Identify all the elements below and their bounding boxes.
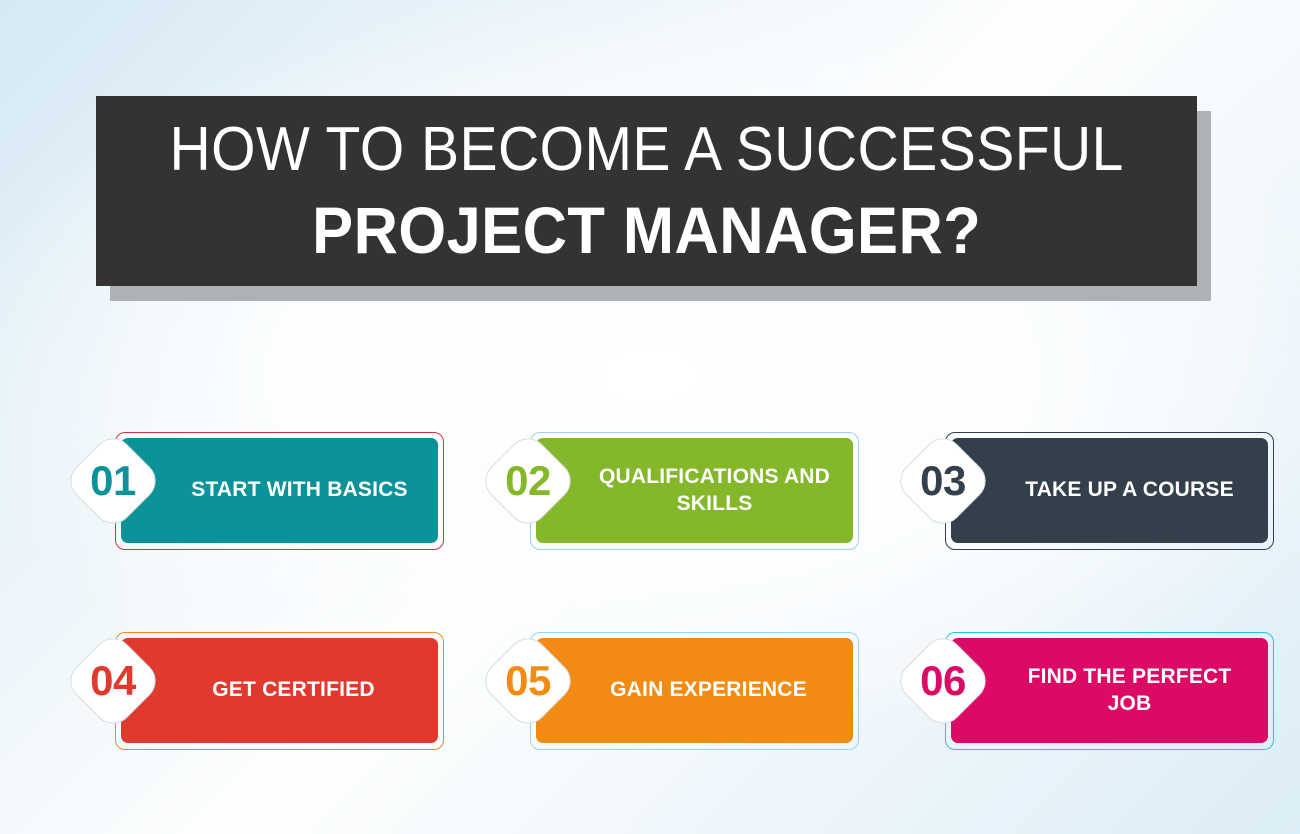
step-label-02: QUALIFICATIONS AND SKILLS — [536, 464, 853, 518]
step-number-03: 03 — [920, 457, 966, 505]
step-badge-06: 06 — [894, 632, 992, 730]
step-card-01[interactable]: START WITH BASICS 01 — [58, 426, 444, 556]
step-label-04: GET CERTIFIED — [166, 677, 392, 704]
step-label-01: START WITH BASICS — [133, 477, 426, 504]
step-bar-01: START WITH BASICS — [121, 438, 438, 543]
step-number-01: 01 — [90, 457, 136, 505]
step-bar-03: TAKE UP A COURSE — [951, 438, 1268, 543]
steps-grid: START WITH BASICS 01 QUALIFICATIONS AND … — [58, 420, 1254, 820]
title-banner: HOW TO BECOME A SUCCESSFUL PROJECT MANAG… — [96, 96, 1197, 286]
step-number-02: 02 — [505, 457, 551, 505]
step-badge-01: 01 — [64, 432, 162, 530]
title-banner-body: HOW TO BECOME A SUCCESSFUL PROJECT MANAG… — [96, 96, 1197, 286]
step-badge-04: 04 — [64, 632, 162, 730]
step-badge-05: 05 — [479, 632, 577, 730]
step-bar-02: QUALIFICATIONS AND SKILLS — [536, 438, 853, 543]
infographic-canvas: HOW TO BECOME A SUCCESSFUL PROJECT MANAG… — [0, 0, 1300, 834]
step-number-06: 06 — [920, 657, 966, 705]
step-card-06[interactable]: FIND THE PERFECT JOB 06 — [888, 626, 1274, 756]
step-bar-06: FIND THE PERFECT JOB — [951, 638, 1268, 743]
step-card-03[interactable]: TAKE UP A COURSE 03 — [888, 426, 1274, 556]
step-number-04: 04 — [90, 657, 136, 705]
step-badge-03: 03 — [894, 432, 992, 530]
title-line-1: HOW TO BECOME A SUCCESSFUL — [169, 119, 1123, 181]
step-card-04[interactable]: GET CERTIFIED 04 — [58, 626, 444, 756]
step-bar-04: GET CERTIFIED — [121, 638, 438, 743]
step-bar-05: GAIN EXPERIENCE — [536, 638, 853, 743]
step-label-03: TAKE UP A COURSE — [967, 477, 1252, 504]
step-card-02[interactable]: QUALIFICATIONS AND SKILLS 02 — [473, 426, 859, 556]
step-label-05: GAIN EXPERIENCE — [564, 677, 825, 704]
step-badge-02: 02 — [479, 432, 577, 530]
step-card-05[interactable]: GAIN EXPERIENCE 05 — [473, 626, 859, 756]
step-label-06: FIND THE PERFECT JOB — [951, 664, 1268, 718]
step-number-05: 05 — [505, 657, 551, 705]
title-line-2: PROJECT MANAGER? — [312, 197, 981, 263]
